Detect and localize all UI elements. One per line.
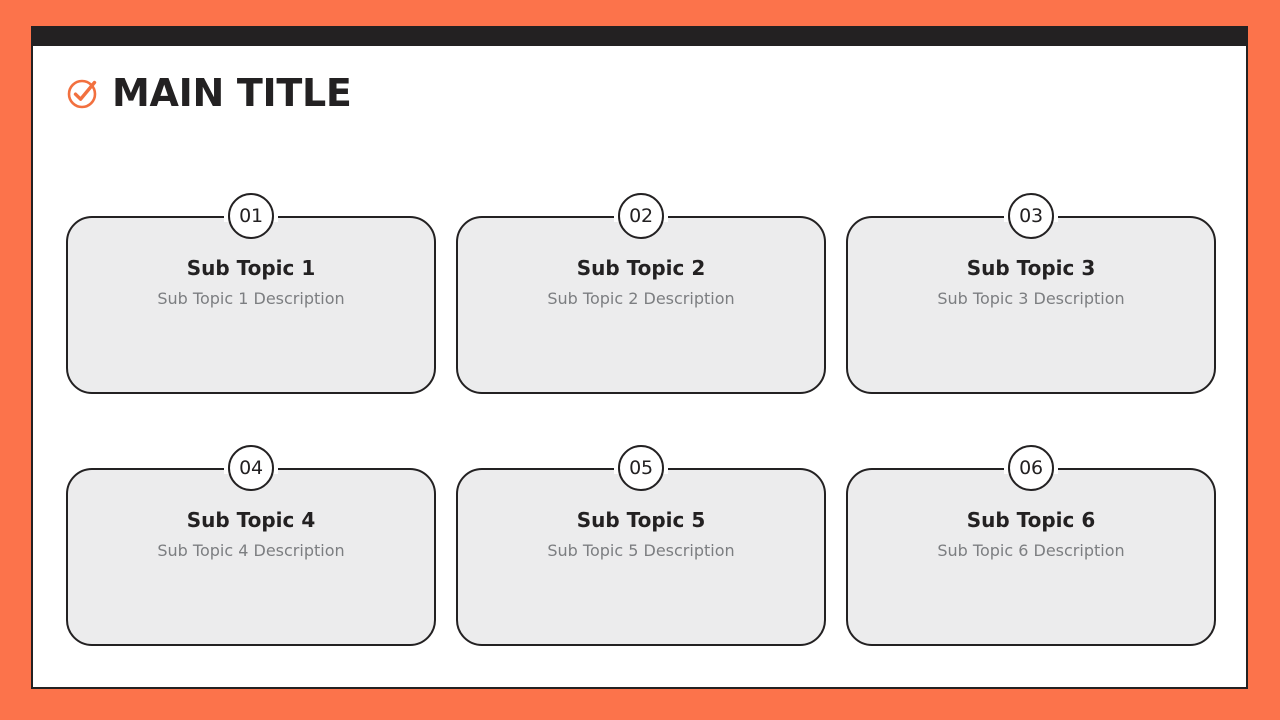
sub-topic-grid: Sub Topic 1 Sub Topic 1 Description 01 S… bbox=[66, 193, 1215, 646]
card-title: Sub Topic 6 bbox=[967, 509, 1096, 531]
top-accent-bar bbox=[31, 26, 1248, 46]
card-description: Sub Topic 2 Description bbox=[547, 290, 734, 308]
card-title: Sub Topic 5 bbox=[577, 509, 706, 531]
card-number-badge: 05 bbox=[618, 445, 664, 491]
card-body[interactable]: Sub Topic 3 Sub Topic 3 Description bbox=[846, 216, 1216, 394]
card-title: Sub Topic 1 bbox=[187, 257, 316, 279]
sub-topic-card-02[interactable]: Sub Topic 2 Sub Topic 2 Description 02 bbox=[456, 193, 826, 394]
card-title: Sub Topic 4 bbox=[187, 509, 316, 531]
slide: MAIN TITLE Sub Topic 1 Sub Topic 1 Descr… bbox=[0, 0, 1280, 720]
card-description: Sub Topic 5 Description bbox=[547, 542, 734, 560]
sub-topic-card-03[interactable]: Sub Topic 3 Sub Topic 3 Description 03 bbox=[846, 193, 1216, 394]
card-description: Sub Topic 1 Description bbox=[157, 290, 344, 308]
sub-topic-card-04[interactable]: Sub Topic 4 Sub Topic 4 Description 04 bbox=[66, 445, 436, 646]
sub-topic-card-06[interactable]: Sub Topic 6 Sub Topic 6 Description 06 bbox=[846, 445, 1216, 646]
slide-header: MAIN TITLE bbox=[66, 74, 352, 112]
sub-topic-card-01[interactable]: Sub Topic 1 Sub Topic 1 Description 01 bbox=[66, 193, 436, 394]
card-description: Sub Topic 3 Description bbox=[937, 290, 1124, 308]
slide-content-panel: MAIN TITLE Sub Topic 1 Sub Topic 1 Descr… bbox=[31, 46, 1248, 689]
card-body[interactable]: Sub Topic 1 Sub Topic 1 Description bbox=[66, 216, 436, 394]
card-number-badge: 03 bbox=[1008, 193, 1054, 239]
card-body[interactable]: Sub Topic 6 Sub Topic 6 Description bbox=[846, 468, 1216, 646]
card-number-badge: 04 bbox=[228, 445, 274, 491]
card-number-badge: 01 bbox=[228, 193, 274, 239]
card-title: Sub Topic 2 bbox=[577, 257, 706, 279]
card-number-badge: 06 bbox=[1008, 445, 1054, 491]
card-number-badge: 02 bbox=[618, 193, 664, 239]
card-description: Sub Topic 6 Description bbox=[937, 542, 1124, 560]
sub-topic-card-05[interactable]: Sub Topic 5 Sub Topic 5 Description 05 bbox=[456, 445, 826, 646]
page-title: MAIN TITLE bbox=[112, 74, 352, 112]
card-title: Sub Topic 3 bbox=[967, 257, 1096, 279]
circle-check-icon bbox=[66, 76, 100, 110]
card-body[interactable]: Sub Topic 2 Sub Topic 2 Description bbox=[456, 216, 826, 394]
card-body[interactable]: Sub Topic 4 Sub Topic 4 Description bbox=[66, 468, 436, 646]
card-body[interactable]: Sub Topic 5 Sub Topic 5 Description bbox=[456, 468, 826, 646]
card-description: Sub Topic 4 Description bbox=[157, 542, 344, 560]
